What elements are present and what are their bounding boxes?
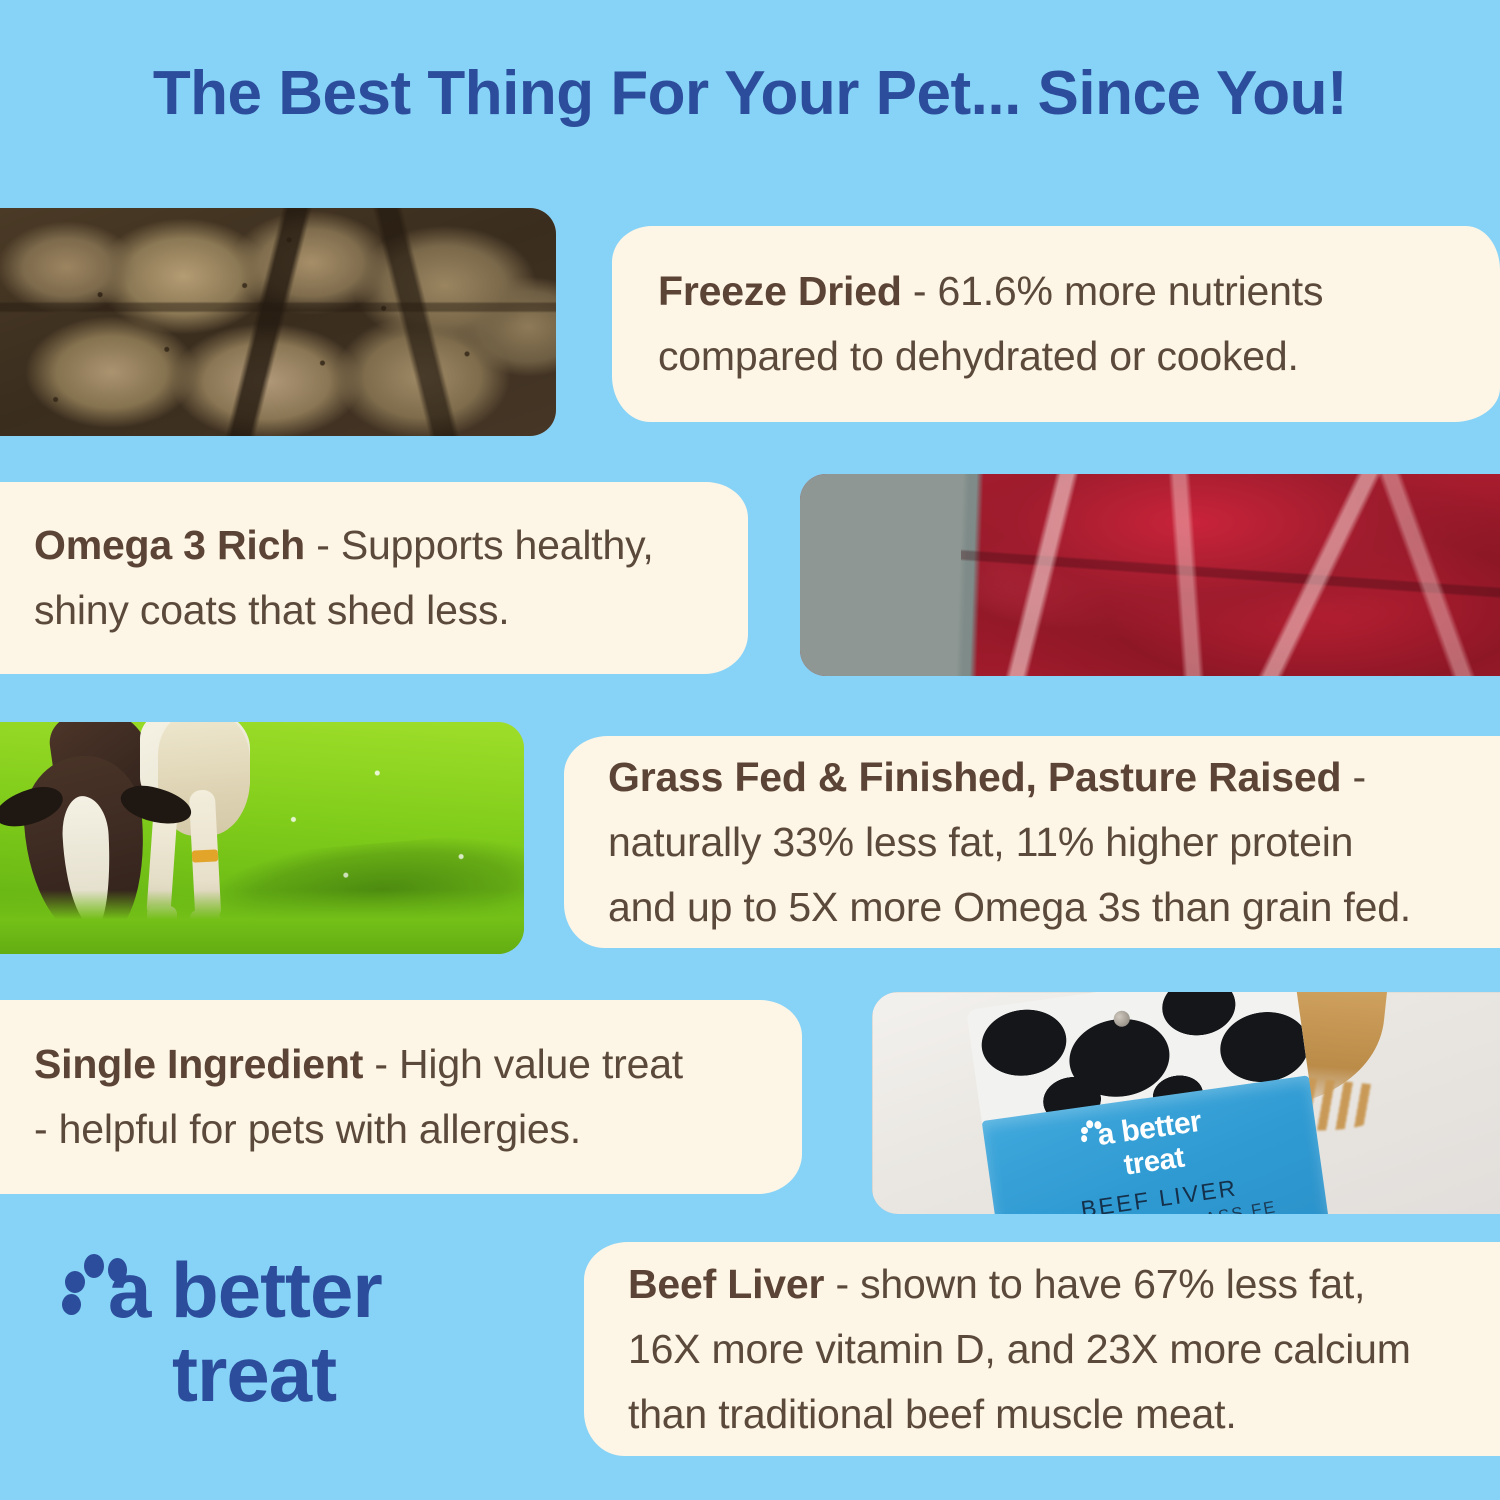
feature-bold: Grass Fed & Finished, Pasture Raised — [608, 754, 1341, 800]
feature-card-grass-fed: Grass Fed & Finished, Pasture Raised - n… — [564, 736, 1500, 948]
feature-line: than traditional beef muscle meat. — [628, 1382, 1456, 1447]
feature-line: compared to dehydrated or cooked. — [658, 324, 1454, 389]
feature-bold: Single Ingredient — [34, 1041, 363, 1087]
liver-specks — [0, 208, 556, 436]
feature-rest: shiny coats that shed less. — [34, 587, 509, 633]
feature-line: naturally 33% less fat, 11% higher prote… — [608, 810, 1456, 875]
meat-marbling — [961, 474, 1500, 676]
page-title: The Best Thing For Your Pet... Since You… — [0, 58, 1500, 129]
feature-rest: compared to dehydrated or cooked. — [658, 333, 1299, 379]
foreground-grass — [0, 890, 524, 954]
feature-line: Freeze Dried - 61.6% more nutrients — [658, 259, 1454, 324]
feature-bold: Beef Liver — [628, 1261, 824, 1307]
feature-line: Single Ingredient - High value treat — [34, 1032, 768, 1097]
feature-rest: 16X more vitamin D, and 23X more calcium — [628, 1326, 1411, 1372]
feature-bold: Freeze Dried — [658, 268, 902, 314]
feature-rest: naturally 33% less fat, 11% higher prote… — [608, 819, 1353, 865]
feature-rest: than traditional beef muscle meat. — [628, 1391, 1237, 1437]
brand-line2: treat — [52, 1332, 482, 1416]
cow-ankle-band — [192, 849, 219, 862]
feature-rest: and up to 5X more Omega 3s than grain fe… — [608, 884, 1411, 930]
raw-beef-photo — [800, 474, 1500, 676]
product-pouch: a better treat BEEF LIVER EZE DRIED | GR… — [966, 992, 1332, 1214]
product-infographic: The Best Thing For Your Pet... Since You… — [0, 0, 1500, 1500]
grazing-cow-pasture-photo — [0, 722, 524, 954]
feature-bold: Omega 3 Rich — [34, 522, 305, 568]
feature-line: 16X more vitamin D, and 23X more calcium — [628, 1317, 1456, 1382]
product-pouch-photo: a better treat BEEF LIVER EZE DRIED | GR… — [872, 992, 1500, 1214]
feature-line: shiny coats that shed less. — [34, 578, 714, 643]
feature-rest: - — [1341, 754, 1366, 800]
brand-logo: a better treat — [52, 1248, 482, 1458]
freeze-dried-liver-cubes-photo — [0, 208, 556, 436]
feature-rest: - Supports healthy, — [305, 522, 653, 568]
paw-print-icon — [1079, 1119, 1104, 1144]
feature-card-omega-3-rich: Omega 3 Rich - Supports healthy, shiny c… — [0, 482, 748, 674]
feature-line: Beef Liver - shown to have 67% less fat, — [628, 1252, 1456, 1317]
feature-card-single-ingredient: Single Ingredient - High value treat - h… — [0, 1000, 802, 1194]
feature-line: and up to 5X more Omega 3s than grain fe… — [608, 875, 1456, 940]
feature-rest: - shown to have 67% less fat, — [824, 1261, 1365, 1307]
feature-rest: - 61.6% more nutrients — [902, 268, 1324, 314]
feature-line: Omega 3 Rich - Supports healthy, — [34, 513, 714, 578]
feature-line: - helpful for pets with allergies. — [34, 1097, 768, 1162]
feature-card-beef-liver: Beef Liver - shown to have 67% less fat,… — [584, 1242, 1500, 1456]
feature-line: Grass Fed & Finished, Pasture Raised - — [608, 745, 1456, 810]
paw-print-icon — [62, 1254, 122, 1310]
feature-card-freeze-dried: Freeze Dried - 61.6% more nutrients comp… — [612, 226, 1500, 422]
feature-rest: - High value treat — [363, 1041, 683, 1087]
feature-rest: - helpful for pets with allergies. — [34, 1106, 581, 1152]
